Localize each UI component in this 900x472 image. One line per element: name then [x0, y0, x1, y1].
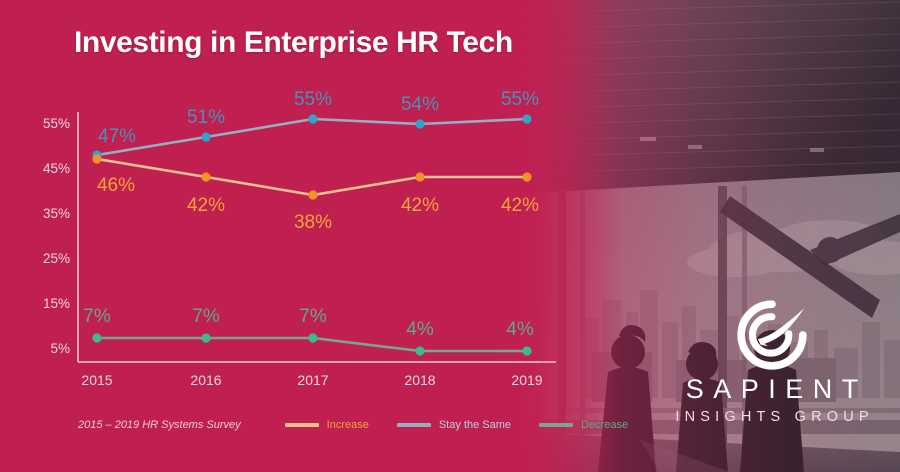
stay-the-same-label-2019: 55% — [501, 89, 539, 110]
legend-label-decrease: Decrease — [581, 419, 628, 431]
increase-label-2017: 38% — [294, 212, 332, 233]
stay-the-same-label-2017: 55% — [294, 89, 332, 110]
y-tick-5: 5% — [50, 341, 70, 356]
y-tick-45: 45% — [43, 161, 70, 176]
increase-point-2019 — [522, 172, 531, 181]
legend-swatch-stay-the-same — [397, 423, 431, 427]
increase-point-2017 — [308, 190, 317, 199]
x-tick-2017: 2017 — [297, 372, 328, 388]
legend-swatch-increase — [285, 423, 319, 427]
legend-label-stay-the-same: Stay the Same — [439, 419, 511, 431]
y-tick-55: 55% — [43, 116, 70, 131]
increase-label-2018: 42% — [401, 195, 439, 216]
slide-canvas: Investing in Enterprise HR Tech 55% 45% … — [0, 0, 900, 472]
sapient-subtitle: INSIGHTS GROUP — [652, 409, 892, 425]
stay-the-same-label-2016: 51% — [187, 107, 225, 128]
decrease-point-2019 — [522, 346, 531, 355]
sapient-logo: SAPIENT INSIGHTS GROUP — [652, 300, 892, 440]
x-tick-2015: 2015 — [81, 372, 112, 388]
y-tick-35: 35% — [43, 206, 70, 221]
stay-the-same-label-2015: 47% — [98, 126, 136, 147]
decrease-point-2017 — [308, 333, 317, 342]
x-axis-tick-labels: 2015 2016 2017 2018 2019 — [81, 372, 542, 388]
stay-the-same-point-2018 — [415, 119, 424, 128]
legend-label-increase: Increase — [327, 419, 369, 431]
increase-line — [97, 159, 527, 195]
decrease-point-2016 — [201, 333, 210, 342]
y-tick-15: 15% — [43, 296, 70, 311]
series-increase: 46% 42% 38% 42% 42% — [92, 154, 539, 233]
decrease-point-2018 — [415, 346, 424, 355]
legend-swatch-decrease — [539, 423, 573, 427]
decrease-label-2015: 7% — [83, 306, 111, 327]
stay-the-same-label-2018: 54% — [401, 94, 439, 115]
legend-item-decrease[interactable]: Decrease — [539, 419, 628, 431]
decrease-label-2019: 4% — [506, 319, 534, 340]
increase-point-2016 — [201, 172, 210, 181]
legend-item-stay-the-same[interactable]: Stay the Same — [397, 419, 511, 431]
line-chart: 55% 45% 35% 25% 15% 5% 2015 2016 2017 20… — [0, 0, 600, 472]
decrease-point-2015 — [92, 333, 101, 342]
series-decrease: 7% 7% 7% 4% 4% — [83, 306, 534, 356]
stay-the-same-point-2019 — [522, 114, 531, 123]
decrease-label-2017: 7% — [299, 306, 327, 327]
increase-point-2015 — [92, 154, 101, 163]
sapient-wordmark: SAPIENT — [652, 374, 892, 405]
increase-label-2015: 46% — [97, 175, 135, 196]
increase-point-2018 — [415, 172, 424, 181]
decrease-label-2018: 4% — [406, 319, 434, 340]
stay-the-same-line — [97, 119, 527, 155]
stay-the-same-point-2017 — [308, 114, 317, 123]
decrease-label-2016: 7% — [192, 306, 220, 327]
legend-source-note: 2015 – 2019 HR Systems Survey — [78, 419, 241, 431]
increase-label-2016: 42% — [187, 195, 225, 216]
y-axis-tick-labels: 55% 45% 35% 25% 15% 5% — [43, 116, 70, 356]
chart-legend: 2015 – 2019 HR Systems Survey Increase S… — [78, 414, 558, 436]
increase-label-2019: 42% — [501, 195, 539, 216]
sapient-swoosh-icon — [737, 300, 807, 370]
series-stay-the-same: 47% 51% 55% 54% 55% — [92, 89, 539, 160]
x-tick-2018: 2018 — [404, 372, 435, 388]
stay-the-same-point-2016 — [201, 132, 210, 141]
y-tick-25: 25% — [43, 251, 70, 266]
x-tick-2019: 2019 — [511, 372, 542, 388]
legend-item-increase[interactable]: Increase — [285, 419, 369, 431]
x-tick-2016: 2016 — [190, 372, 221, 388]
